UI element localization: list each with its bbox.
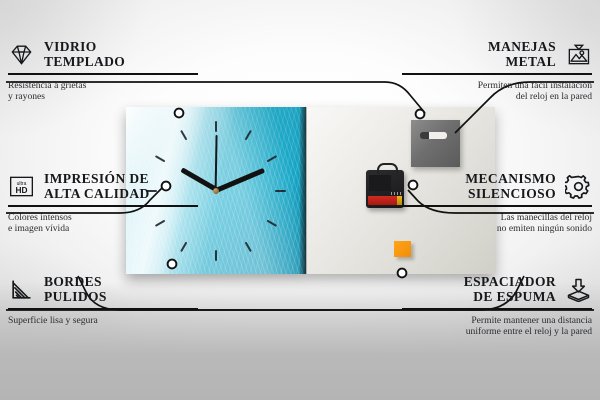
hanger-keyhole-slot [420, 132, 447, 139]
divider [402, 73, 592, 75]
divider [8, 205, 198, 207]
foam-spacer [394, 241, 411, 257]
feature-bordes-pulidos: BORDES PULIDOS Superficie lisa y segura [8, 275, 198, 326]
gear-icon [565, 174, 592, 199]
polished-edges-icon [8, 277, 35, 302]
divider [402, 308, 592, 310]
clock-minute-hand [213, 168, 264, 193]
svg-text:HD: HD [15, 185, 27, 195]
mechanism-hanger-loop [377, 163, 398, 174]
feature-description: Permiten una fácil instalación del reloj… [402, 80, 592, 103]
feature-title: BORDES PULIDOS [44, 275, 107, 304]
arrow-down-stack-icon [565, 277, 592, 302]
feature-description: Las manecillas del reloj no emiten ningú… [402, 212, 592, 235]
feature-title: IMPRESIÓN DE ALTA CALIDAD [44, 172, 150, 201]
diamond-icon [8, 42, 35, 67]
feature-title: MECANISMO SILENCIOSO [465, 172, 556, 201]
feature-manejas-metal: MANEJAS METAL Permiten una fácil instala… [402, 40, 592, 102]
feature-description: Permite mantener una distancia uniforme … [402, 315, 592, 338]
feature-title: ESPACIADOR DE ESPUMA [464, 275, 556, 304]
feature-description: Superficie lisa y segura [8, 315, 198, 326]
quartz-mechanism-box [366, 170, 404, 208]
feature-title: VIDRIO TEMPLADO [44, 40, 125, 69]
feature-description: Colores intensos e imagen vívida [8, 212, 198, 235]
picture-frame-hanging-icon [565, 42, 592, 67]
mechanism-body [369, 175, 391, 191]
infographic-canvas: VIDRIO TEMPLADO Resistencia a grietas y … [0, 0, 600, 400]
feature-mecanismo-silencioso: MECANISMO SILENCIOSO Las manecillas del … [402, 172, 592, 234]
metal-hanger-plate [411, 120, 460, 167]
feature-vidrio-templado: VIDRIO TEMPLADO Resistencia a grietas y … [8, 40, 198, 102]
feature-impresion-alta-calidad: ultra HD IMPRESIÓN DE ALTA CALIDAD Color… [8, 172, 198, 234]
feature-description: Resistencia a grietas y rayones [8, 80, 198, 103]
clock-second-hand [215, 134, 218, 192]
battery [368, 196, 398, 205]
clock-center-pin [213, 188, 219, 194]
divider [402, 205, 592, 207]
ultra-hd-icon: ultra HD [8, 174, 35, 199]
divider [8, 73, 198, 75]
feature-title: MANEJAS METAL [488, 40, 556, 69]
feature-espaciador-espuma: ESPACIADOR DE ESPUMA Permite mantener un… [402, 275, 592, 337]
mechanism-detail [391, 192, 401, 195]
divider [8, 308, 198, 310]
